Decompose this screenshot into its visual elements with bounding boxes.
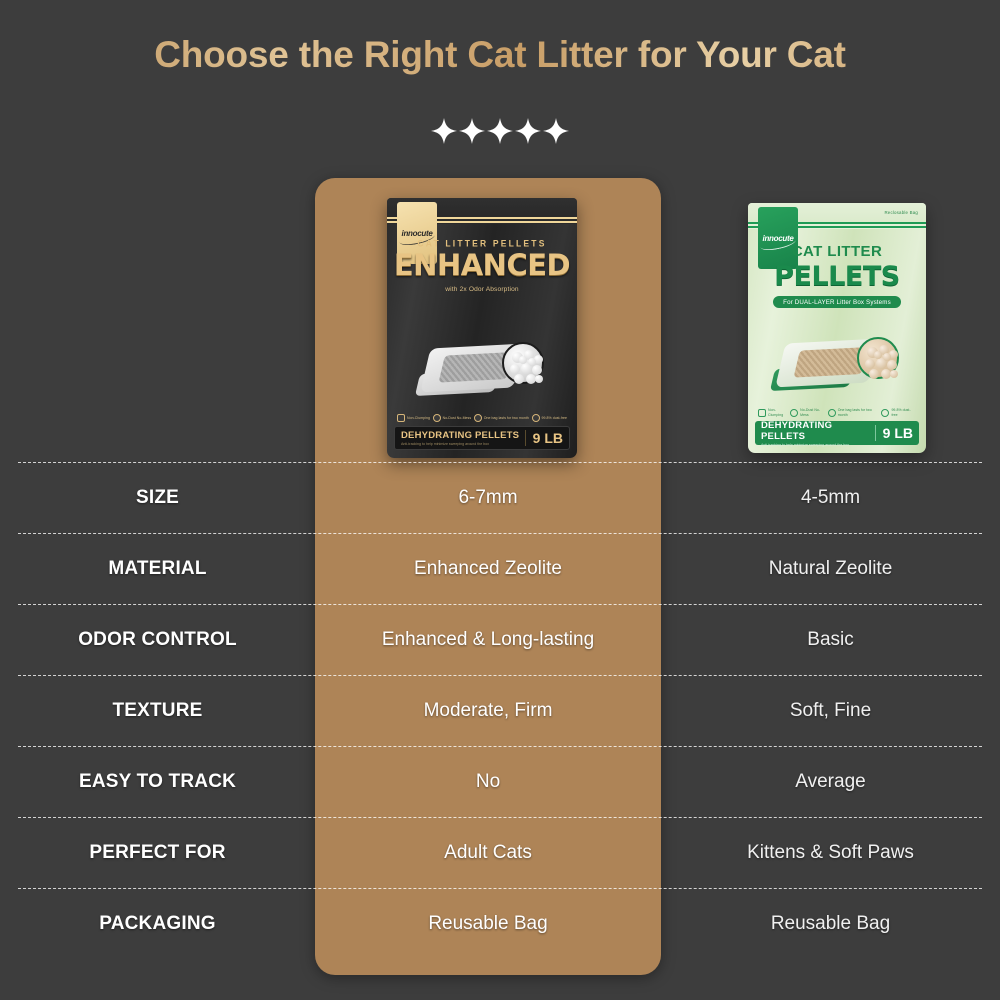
row-value-enhanced: Reusable Bag (315, 913, 661, 935)
pellet-icon (887, 360, 897, 370)
feature-badge: 99.8% dust-free (532, 414, 567, 422)
sparkle-star-icon (459, 118, 485, 149)
sparkle-star-icon (543, 118, 569, 149)
row-value-enhanced: Adult Cats (315, 842, 661, 864)
page-title: Choose the Right Cat Litter for Your Cat (0, 34, 1000, 76)
feature-badge: Non-Clumping (758, 408, 790, 417)
row-value-pellets: Reusable Bag (661, 913, 1000, 935)
pellet-icon (890, 370, 898, 378)
row-value-enhanced: No (315, 771, 661, 793)
feature-badge-icon (881, 409, 889, 417)
feature-badge-label: 99.8% dust-free (542, 416, 567, 420)
bag-product-name: PELLETS (748, 263, 926, 290)
bag-kicker: CAT LITTER PELLETS (387, 238, 577, 249)
row-label: PACKAGING (0, 913, 315, 935)
pellet-icon (514, 374, 524, 384)
pellet-icon (510, 364, 520, 374)
feature-badge-label: One bag lasts for two month (838, 408, 882, 417)
pellet-icon (528, 358, 536, 366)
row-value-enhanced: Enhanced & Long-lasting (315, 629, 661, 651)
row-value-enhanced: Moderate, Firm (315, 700, 661, 722)
feature-badge-icon (790, 409, 798, 417)
bag-weight: 9 LB (525, 430, 563, 446)
star-divider (0, 118, 1000, 149)
feature-badge-label: Non-Clumping (407, 416, 430, 420)
pellet-icon (874, 351, 882, 359)
row-value-pellets: Kittens & Soft Paws (661, 842, 1000, 864)
bag-tagline: For DUAL-LAYER Litter Box Systems (773, 296, 901, 308)
comparison-table: SIZE6-7mm4-5mmMATERIALEnhanced ZeoliteNa… (0, 462, 1000, 959)
reclosable-bag-label: Reclosable Bag (884, 210, 918, 215)
row-label: PERFECT FOR (0, 842, 315, 864)
litter-box-illustration (418, 340, 546, 402)
sparkle-star-icon (487, 118, 513, 149)
bag-body: innocute CAT LITTER PELLETS ENHANCED wit… (387, 198, 577, 458)
bag-bottom-bar: DEHYDRATING PELLETS Anti-tracking to hel… (394, 426, 570, 450)
row-label: EASY TO TRACK (0, 771, 315, 793)
bag-body: Reclosable Bag innocute CAT LITTER PELLE… (748, 203, 926, 453)
bag-feature-badges: Non-ClumpingNo-Dust No-MessOne bag lasts… (394, 414, 570, 422)
sparkle-star-icon (431, 118, 457, 149)
feature-badge-icon (433, 414, 441, 422)
product-bag-enhanced[interactable]: innocute CAT LITTER PELLETS ENHANCED wit… (387, 198, 577, 458)
row-value-pellets: Natural Zeolite (661, 558, 1000, 580)
row-label: MATERIAL (0, 558, 315, 580)
pellet-zoom-inset (502, 342, 544, 384)
row-value-pellets: Basic (661, 629, 1000, 651)
feature-badge-label: No-Dust No-Mess (443, 416, 472, 420)
pellet-icon (865, 359, 875, 369)
bag-tagline: with 2x Odor Absorption (387, 286, 577, 293)
infographic-page: Choose the Right Cat Litter for Your Cat… (0, 0, 1000, 1000)
row-label: SIZE (0, 487, 315, 509)
pellet-icon (532, 365, 542, 375)
row-value-enhanced: 6-7mm (315, 487, 661, 509)
table-row: EASY TO TRACKNoAverage (0, 746, 1000, 817)
bag-product-name: ENHANCED (387, 251, 577, 280)
bag-weight: 9 LB (875, 425, 913, 441)
pellet-zoom-inset (857, 337, 899, 379)
feature-badge-icon (397, 414, 405, 422)
feature-badge-icon (828, 409, 836, 417)
bag-bottom-bar: DEHYDRATING PELLETS Anti-tracking to hel… (755, 421, 919, 445)
row-value-pellets: Average (661, 771, 1000, 793)
feature-badge-label: Non-Clumping (768, 408, 790, 417)
table-row: PERFECT FORAdult CatsKittens & Soft Paws (0, 817, 1000, 888)
feature-badge-icon (758, 409, 766, 417)
row-label: ODOR CONTROL (0, 629, 315, 651)
pellet-icon (519, 356, 527, 364)
feature-badge: One bag lasts for two month (474, 414, 529, 422)
bag-feature-badges: Non-ClumpingNo-Dust No-MessOne bag lasts… (755, 408, 919, 417)
pellet-icon (869, 369, 879, 379)
bag-headline-block: CAT LITTER PELLETS For DUAL-LAYER Litter… (748, 243, 926, 309)
bag-headline-block: CAT LITTER PELLETS ENHANCED with 2x Odor… (387, 238, 577, 293)
row-value-pellets: Soft, Fine (661, 700, 1000, 722)
row-value-enhanced: Enhanced Zeolite (315, 558, 661, 580)
bag-bottom-title: DEHYDRATING PELLETS (401, 430, 525, 441)
feature-badge-label: 99.8% dust-free (891, 408, 916, 417)
table-row: ODOR CONTROLEnhanced & Long-lastingBasic (0, 604, 1000, 675)
table-row: SIZE6-7mm4-5mm (0, 462, 1000, 533)
row-label: TEXTURE (0, 700, 315, 722)
pellet-icon (883, 353, 891, 361)
bag-kicker: CAT LITTER (748, 243, 926, 260)
table-row: TEXTUREModerate, FirmSoft, Fine (0, 675, 1000, 746)
feature-badge: 99.8% dust-free (881, 408, 916, 417)
table-row: PACKAGINGReusable BagReusable Bag (0, 888, 1000, 959)
feature-badge: No-Dust No-Mess (433, 414, 472, 422)
litter-box-illustration (773, 335, 901, 397)
pellet-icon (535, 375, 543, 383)
bag-bottom-subtitle: Anti-tracking to help minimize sweeping … (761, 443, 875, 447)
feature-badge: Non-Clumping (397, 414, 430, 422)
feature-badge-icon (474, 414, 482, 422)
feature-badge: No-Dust No-Mess (790, 408, 828, 417)
row-value-pellets: 4-5mm (661, 487, 1000, 509)
bag-bottom-subtitle: Anti-tracking to help minimize sweeping … (401, 442, 525, 446)
feature-badge-icon (532, 414, 540, 422)
table-row: MATERIALEnhanced ZeoliteNatural Zeolite (0, 533, 1000, 604)
sparkle-star-icon (515, 118, 541, 149)
feature-badge-label: One bag lasts for two month (484, 416, 529, 420)
bag-bottom-title: DEHYDRATING PELLETS (761, 420, 875, 442)
product-bag-pellets[interactable]: Reclosable Bag innocute CAT LITTER PELLE… (748, 203, 926, 453)
feature-badge: One bag lasts for two month (828, 408, 882, 417)
feature-badge-label: No-Dust No-Mess (800, 408, 828, 417)
